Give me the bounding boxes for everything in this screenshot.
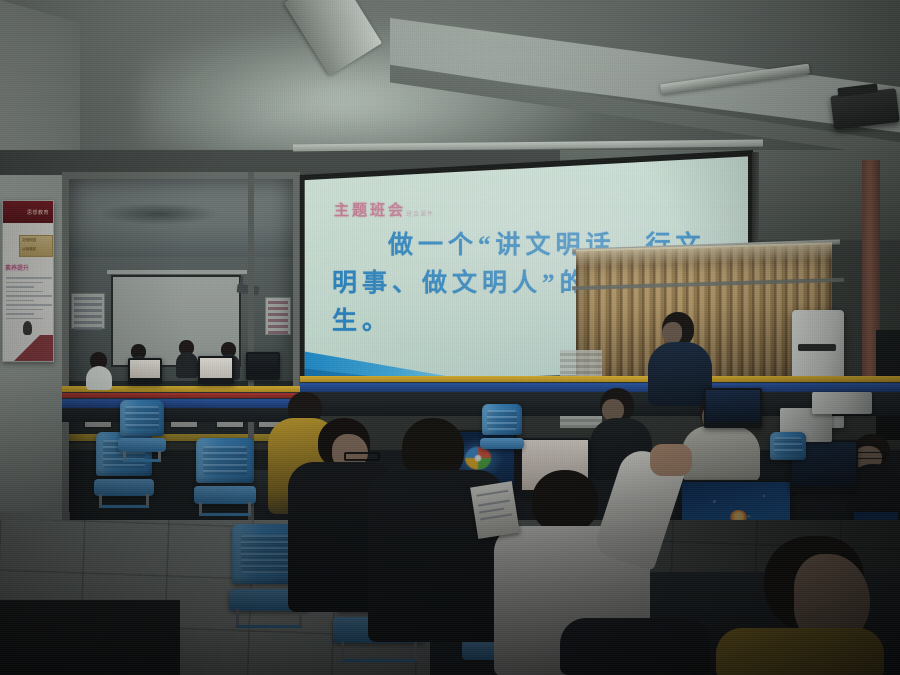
torso bbox=[86, 366, 112, 390]
chair-legs bbox=[123, 451, 162, 462]
pc-tower bbox=[812, 392, 872, 414]
face bbox=[662, 322, 682, 344]
chair-legs bbox=[341, 641, 417, 662]
monitor-dark bbox=[246, 352, 280, 380]
poster-plaque-line1: 文明校园 bbox=[20, 236, 52, 245]
torso bbox=[560, 618, 710, 675]
chair[interactable] bbox=[770, 432, 806, 480]
chair-seat bbox=[194, 486, 257, 503]
chair-legs bbox=[199, 502, 250, 516]
poster-footer-band bbox=[3, 335, 53, 361]
classroom-photo: 思想教育 文明校园 从我做起 素养提升 bbox=[0, 0, 900, 675]
foreground-shadow-left bbox=[0, 600, 180, 675]
chair[interactable] bbox=[196, 438, 254, 516]
slide-title: 主题班会 bbox=[334, 199, 406, 220]
poster-plaque-line2: 从我做起 bbox=[20, 245, 52, 254]
chair-legs bbox=[236, 609, 301, 628]
chair-back bbox=[196, 438, 254, 483]
monitor-white bbox=[198, 356, 234, 384]
monitor-screen bbox=[248, 354, 278, 374]
poster-header-label: 思想教育 bbox=[27, 209, 49, 216]
hand bbox=[650, 444, 692, 476]
chair-back bbox=[120, 400, 164, 436]
student-foreground-dark bbox=[560, 618, 710, 675]
monitor-white bbox=[128, 358, 162, 384]
student-foreground-yellow bbox=[716, 536, 884, 675]
poster-highlight: 素养提升 bbox=[5, 263, 29, 272]
poster-plaque: 文明校园 从我做起 bbox=[19, 235, 53, 257]
student-left-row bbox=[86, 352, 112, 388]
monitor-screen bbox=[200, 358, 232, 378]
torso bbox=[176, 352, 198, 378]
monitor-screen bbox=[130, 360, 160, 378]
torso bbox=[682, 426, 760, 482]
chair-seat bbox=[94, 479, 154, 496]
chair[interactable] bbox=[120, 400, 164, 462]
paper-handout bbox=[470, 481, 520, 539]
student-left-row bbox=[176, 340, 198, 378]
monitor-dark bbox=[704, 388, 762, 428]
poster-figure-icon bbox=[23, 321, 32, 335]
torso bbox=[716, 628, 884, 675]
desk-stripe-yellow bbox=[300, 376, 900, 382]
poster-body-lines bbox=[6, 277, 52, 322]
student-standing-navy bbox=[648, 312, 712, 404]
chair-legs bbox=[99, 494, 148, 508]
poster-header: 思想教育 bbox=[3, 201, 53, 223]
head bbox=[532, 470, 598, 532]
chair-back bbox=[770, 432, 806, 460]
monitor-screen bbox=[706, 390, 760, 422]
slide-title-subtext: 班会课件 bbox=[406, 209, 434, 218]
wall-poster: 思想教育 文明校园 从我做起 素养提升 bbox=[2, 200, 54, 362]
